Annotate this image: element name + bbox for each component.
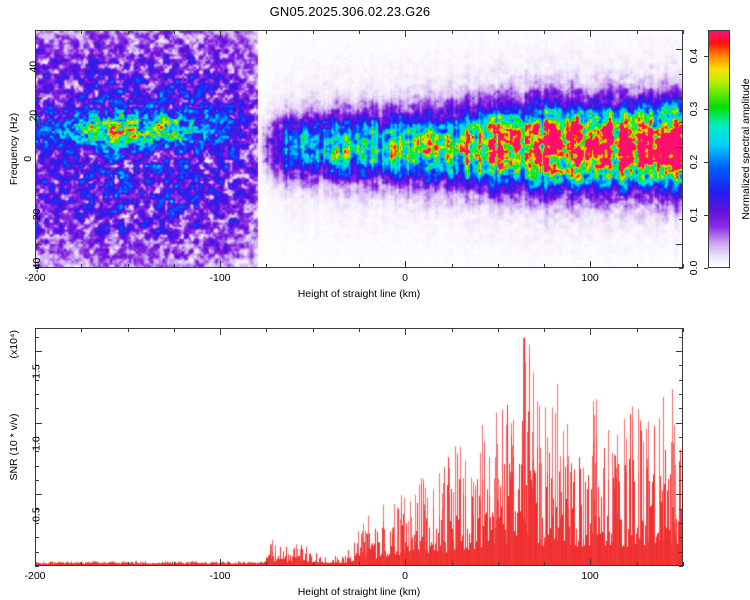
snr-exponent-label: (x10⁴)	[8, 330, 20, 358]
axis-tick	[679, 268, 683, 269]
axis-tick-label: 20	[28, 110, 40, 122]
axis-tick	[637, 328, 638, 332]
axis-tick	[679, 437, 683, 438]
axis-tick	[679, 171, 683, 172]
colorbar-tick	[704, 268, 708, 269]
axis-tick	[266, 562, 267, 566]
axis-tick-label: 100	[581, 570, 599, 582]
axis-tick	[313, 328, 314, 332]
snr-panel	[35, 328, 683, 566]
axis-tick	[676, 49, 683, 50]
axis-tick	[590, 328, 591, 335]
axis-tick	[81, 30, 82, 34]
colorbar-tick-label: 0.1	[688, 208, 700, 223]
colorbar-tick	[704, 109, 708, 110]
axis-tick	[679, 394, 683, 395]
axis-tick-label: -100	[209, 272, 230, 284]
axis-tick-label: 0	[402, 570, 408, 582]
axis-tick	[498, 264, 499, 268]
axis-tick	[35, 408, 39, 409]
axis-tick	[81, 562, 82, 566]
snr-canvas	[36, 329, 682, 565]
axis-tick	[266, 328, 267, 332]
axis-tick	[679, 408, 683, 409]
axis-tick-label: -40	[31, 258, 43, 273]
axis-tick	[35, 451, 39, 452]
axis-tick	[35, 195, 42, 196]
axis-tick	[679, 552, 683, 553]
colorbar-tick	[704, 56, 708, 57]
axis-tick	[174, 562, 175, 566]
axis-tick	[35, 98, 42, 99]
axis-tick	[590, 559, 591, 566]
axis-tick	[637, 264, 638, 268]
axis-tick	[679, 380, 683, 381]
axis-tick	[679, 466, 683, 467]
axis-tick	[590, 30, 591, 37]
axis-tick	[452, 562, 453, 566]
axis-tick	[637, 562, 638, 566]
axis-tick	[35, 494, 42, 495]
axis-tick	[679, 523, 683, 524]
axis-tick	[676, 195, 683, 196]
axis-tick	[452, 328, 453, 332]
colorbar-tick-label: 0.4	[688, 49, 700, 64]
axis-tick	[683, 328, 684, 332]
figure-title: GN05.2025.306.02.23.G26	[0, 4, 700, 19]
axis-tick-label: -100	[209, 570, 230, 582]
axis-tick	[35, 559, 36, 566]
axis-tick	[452, 264, 453, 268]
axis-tick	[679, 509, 683, 510]
axis-tick	[679, 480, 683, 481]
axis-tick	[35, 147, 42, 148]
colorbar-tick	[704, 215, 708, 216]
axis-tick-label: 40	[28, 61, 40, 73]
axis-tick	[679, 365, 683, 366]
axis-tick	[313, 264, 314, 268]
axis-tick-label: 1.5	[31, 364, 43, 379]
axis-tick	[35, 380, 39, 381]
axis-tick	[128, 30, 129, 34]
axis-tick	[676, 244, 683, 245]
axis-tick	[220, 328, 221, 335]
axis-tick	[35, 337, 39, 338]
axis-tick	[266, 30, 267, 34]
axis-tick	[220, 30, 221, 37]
axis-tick	[220, 559, 221, 566]
axis-tick	[35, 171, 39, 172]
figure-root: GN05.2025.306.02.23.G26 -200-10001004020…	[0, 0, 750, 600]
axis-tick	[35, 552, 39, 553]
axis-tick	[679, 122, 683, 123]
axis-tick-label: 100	[581, 272, 599, 284]
axis-tick	[498, 328, 499, 332]
axis-tick	[683, 264, 684, 268]
axis-tick	[405, 328, 406, 335]
axis-tick	[679, 537, 683, 538]
axis-tick	[359, 264, 360, 268]
axis-tick	[313, 562, 314, 566]
axis-tick	[266, 264, 267, 268]
axis-tick	[35, 244, 42, 245]
snr-x-axis-label: Height of straight line (km)	[298, 586, 421, 598]
axis-tick	[174, 328, 175, 332]
axis-tick	[128, 264, 129, 268]
axis-tick	[544, 264, 545, 268]
axis-tick	[544, 562, 545, 566]
axis-tick	[35, 49, 42, 50]
axis-tick	[452, 30, 453, 34]
axis-tick	[679, 451, 683, 452]
axis-tick	[679, 337, 683, 338]
axis-tick-label: 1.0	[31, 436, 43, 451]
axis-tick	[679, 74, 683, 75]
axis-tick	[81, 264, 82, 268]
axis-tick	[544, 328, 545, 332]
axis-tick	[174, 264, 175, 268]
spectrogram-panel	[35, 30, 683, 268]
axis-tick	[220, 261, 221, 268]
axis-tick	[35, 74, 39, 75]
axis-tick	[313, 30, 314, 34]
axis-tick	[35, 394, 39, 395]
axis-tick	[35, 537, 39, 538]
axis-tick	[35, 122, 39, 123]
axis-tick	[128, 562, 129, 566]
axis-tick-label: -20	[31, 209, 43, 224]
snr-y-axis-label: SNR (10 * v/v)	[8, 413, 20, 480]
colorbar-tick-label: 0.3	[688, 102, 700, 117]
axis-tick	[676, 147, 683, 148]
axis-tick	[35, 466, 39, 467]
axis-tick	[35, 566, 39, 567]
axis-tick	[676, 494, 683, 495]
spectrogram-y-axis-label: Frequency (Hz)	[8, 113, 20, 185]
colorbar	[708, 30, 730, 268]
axis-tick	[683, 30, 684, 34]
axis-tick	[676, 98, 683, 99]
axis-tick	[498, 562, 499, 566]
axis-tick	[359, 30, 360, 34]
axis-tick	[679, 566, 683, 567]
axis-tick	[683, 562, 684, 566]
axis-tick	[676, 351, 683, 352]
axis-tick	[637, 30, 638, 34]
axis-tick	[405, 261, 406, 268]
axis-tick	[679, 219, 683, 220]
axis-tick	[405, 30, 406, 37]
axis-tick	[405, 559, 406, 566]
spectrogram-x-axis-label: Height of straight line (km)	[298, 288, 421, 300]
axis-tick-label: -200	[24, 272, 45, 284]
axis-tick-label: 0	[22, 156, 34, 162]
spectrogram-canvas	[36, 31, 682, 267]
axis-tick	[498, 30, 499, 34]
axis-tick	[35, 30, 36, 37]
axis-tick	[544, 30, 545, 34]
colorbar-tick-label: 0.2	[688, 155, 700, 170]
colorbar-tick-label: 0.0	[688, 261, 700, 276]
axis-tick	[35, 523, 39, 524]
axis-tick	[35, 423, 42, 424]
colorbar-gradient	[709, 31, 729, 267]
axis-tick	[35, 480, 39, 481]
axis-tick	[359, 328, 360, 332]
axis-tick	[676, 423, 683, 424]
axis-tick	[359, 562, 360, 566]
colorbar-title: Normalized spectral amplitude	[740, 78, 750, 219]
colorbar-tick	[704, 162, 708, 163]
axis-tick	[35, 328, 36, 335]
axis-tick	[590, 261, 591, 268]
axis-tick-label: 0	[402, 272, 408, 284]
axis-tick	[128, 328, 129, 332]
axis-tick	[174, 30, 175, 34]
axis-tick-label: -200	[24, 570, 45, 582]
axis-tick	[81, 328, 82, 332]
axis-tick	[35, 351, 42, 352]
axis-tick-label: 0.5	[31, 507, 43, 522]
